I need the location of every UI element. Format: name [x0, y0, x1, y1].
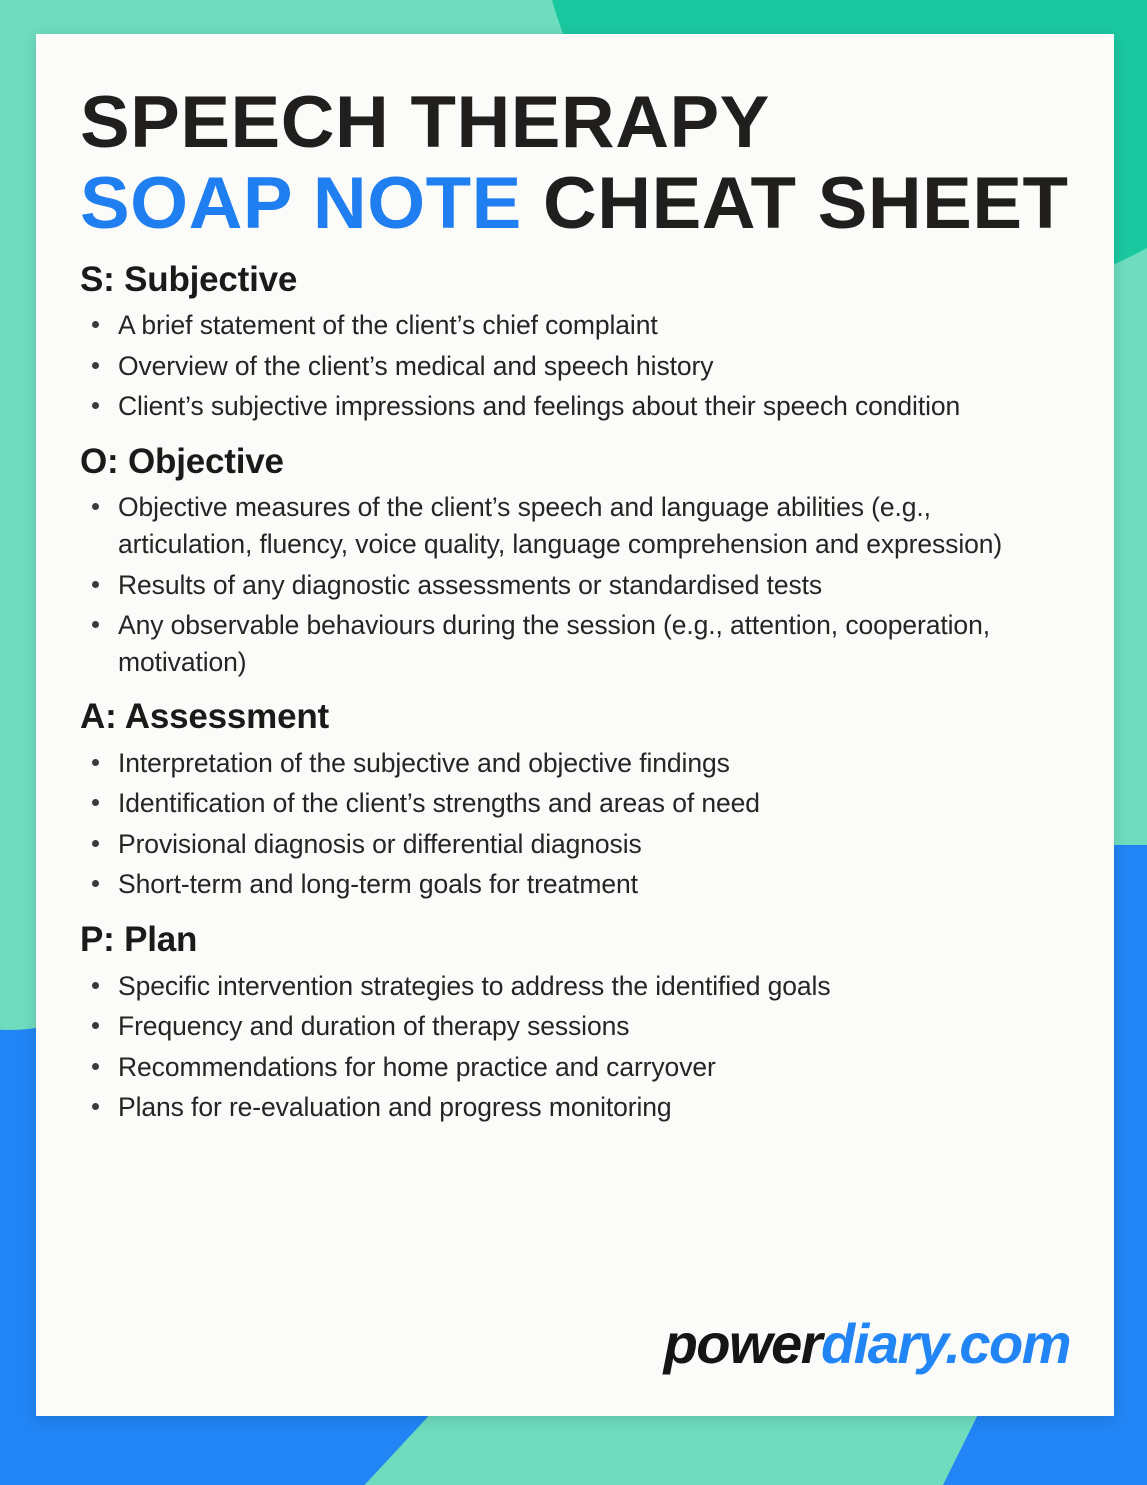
list-item: Specific intervention strategies to addr… — [80, 968, 1070, 1005]
title-rest-text: CHEAT SHEET — [543, 163, 1068, 244]
list-item-text: Provisional diagnosis or differential di… — [118, 829, 642, 859]
section-heading-plan: P: Plan — [80, 921, 1070, 960]
list-item-text: Interpretation of the subjective and obj… — [118, 748, 730, 778]
section-heading-assessment: A: Assessment — [80, 698, 1070, 737]
bullet-dot-icon — [92, 759, 99, 766]
list-item: Identification of the client’s strengths… — [80, 785, 1070, 822]
section-heading-objective: O: Objective — [80, 443, 1070, 482]
list-item: Any observable behaviours during the ses… — [80, 607, 1070, 680]
bullet-dot-icon — [92, 1063, 99, 1070]
list-item: A brief statement of the client’s chief … — [80, 307, 1070, 344]
page-title: SPEECH THERAPY SOAP NOTE CHEAT SHEET — [80, 84, 1070, 243]
section-plan: P: Plan Specific intervention strategies… — [80, 921, 1070, 1126]
list-item: Results of any diagnostic assessments or… — [80, 567, 1070, 604]
title-accent-text: SOAP NOTE — [80, 163, 522, 244]
list-item: Frequency and duration of therapy sessio… — [80, 1008, 1070, 1045]
bullet-dot-icon — [92, 1022, 99, 1029]
list-item: Overview of the client’s medical and spe… — [80, 348, 1070, 385]
section-assessment: A: Assessment Interpretation of the subj… — [80, 698, 1070, 903]
bullet-list-subjective: A brief statement of the client’s chief … — [80, 307, 1070, 425]
list-item: Recommendations for home practice and ca… — [80, 1049, 1070, 1086]
list-item-text: Overview of the client’s medical and spe… — [118, 351, 713, 381]
list-item-text: Any observable behaviours during the ses… — [118, 610, 990, 677]
bullet-list-objective: Objective measures of the client’s speec… — [80, 489, 1070, 680]
bullet-list-plan: Specific intervention strategies to addr… — [80, 968, 1070, 1126]
bullet-dot-icon — [92, 362, 99, 369]
bullet-dot-icon — [92, 982, 99, 989]
list-item-text: Plans for re-evaluation and progress mon… — [118, 1092, 672, 1122]
bullet-dot-icon — [92, 503, 99, 510]
list-item-text: Results of any diagnostic assessments or… — [118, 570, 822, 600]
list-item-text: Specific intervention strategies to addr… — [118, 971, 830, 1001]
bullet-dot-icon — [92, 621, 99, 628]
powerdiary-logo[interactable]: powerdiary.com — [664, 1311, 1070, 1376]
logo-dotcom-text: .com — [945, 1312, 1070, 1375]
bullet-dot-icon — [92, 799, 99, 806]
list-item-text: Identification of the client’s strengths… — [118, 788, 760, 818]
list-item-text: Frequency and duration of therapy sessio… — [118, 1011, 629, 1041]
section-heading-subjective: S: Subjective — [80, 261, 1070, 300]
list-item: Short-term and long-term goals for treat… — [80, 866, 1070, 903]
list-item: Client’s subjective impressions and feel… — [80, 388, 1070, 425]
bullet-dot-icon — [92, 880, 99, 887]
title-line-2: SOAP NOTE CHEAT SHEET — [80, 165, 1090, 242]
bullet-dot-icon — [92, 402, 99, 409]
list-item-text: Short-term and long-term goals for treat… — [118, 869, 638, 899]
cheat-sheet-poster: SPEECH THERAPY SOAP NOTE CHEAT SHEET S: … — [0, 0, 1147, 1485]
list-item: Provisional diagnosis or differential di… — [80, 826, 1070, 863]
bullet-dot-icon — [92, 840, 99, 847]
section-objective: O: Objective Objective measures of the c… — [80, 443, 1070, 680]
title-line-1: SPEECH THERAPY — [80, 84, 1090, 161]
list-item-text: A brief statement of the client’s chief … — [118, 310, 658, 340]
bullet-dot-icon — [92, 581, 99, 588]
list-item: Objective measures of the client’s speec… — [80, 489, 1070, 562]
content-card: SPEECH THERAPY SOAP NOTE CHEAT SHEET S: … — [36, 34, 1114, 1416]
list-item-text: Client’s subjective impressions and feel… — [118, 391, 960, 421]
bullet-dot-icon — [92, 321, 99, 328]
logo-power-text: power — [664, 1312, 821, 1375]
section-subjective: S: Subjective A brief statement of the c… — [80, 261, 1070, 425]
bullet-dot-icon — [92, 1103, 99, 1110]
bullet-list-assessment: Interpretation of the subjective and obj… — [80, 745, 1070, 903]
list-item: Plans for re-evaluation and progress mon… — [80, 1089, 1070, 1126]
list-item-text: Objective measures of the client’s speec… — [118, 492, 1002, 559]
logo-diary-text: diary — [821, 1312, 945, 1375]
list-item: Interpretation of the subjective and obj… — [80, 745, 1070, 782]
list-item-text: Recommendations for home practice and ca… — [118, 1052, 716, 1082]
